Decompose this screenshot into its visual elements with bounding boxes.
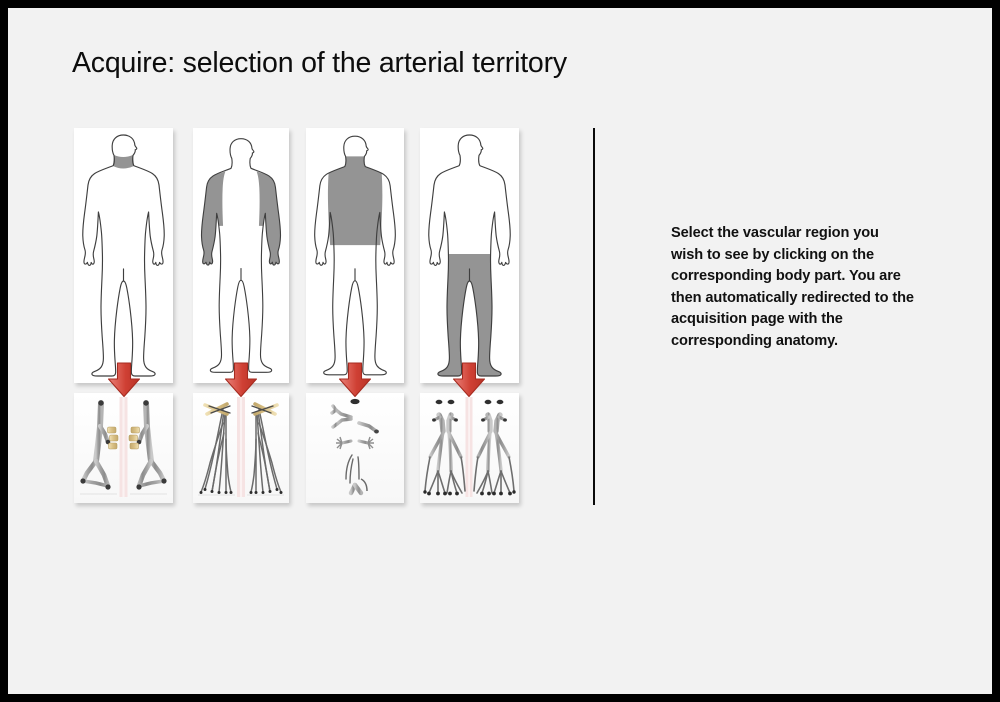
body-diagram-legs-highlighted[interactable] — [420, 128, 519, 383]
page-title: Acquire: selection of the arterial terri… — [72, 46, 892, 80]
body-diagram-torso-highlighted[interactable] — [306, 128, 404, 383]
body-diagram-arms-highlighted[interactable] — [193, 128, 289, 383]
carotid-angiography-thumbnail[interactable] — [74, 393, 173, 503]
lower-limb-angiography-thumbnail[interactable] — [420, 393, 519, 503]
body-silhouette-arms — [193, 128, 289, 383]
vertical-divider — [593, 128, 595, 505]
body-diagram-neck-highlighted[interactable] — [74, 128, 173, 383]
upper-limb-angiography-thumbnail[interactable] — [193, 393, 289, 503]
slide-root: Acquire: selection of the arterial terri… — [0, 0, 1000, 702]
body-silhouette-legs — [420, 128, 519, 383]
carotid-vessel-image — [74, 393, 173, 503]
upper-limb-vessel-image — [193, 393, 289, 503]
slide-canvas: Acquire: selection of the arterial terri… — [8, 8, 992, 694]
body-silhouette-neck — [74, 128, 173, 383]
abdominal-aorta-vessel-image — [306, 393, 404, 503]
lower-limb-vessel-image — [420, 393, 519, 503]
instruction-text: Select the vascular region you wish to s… — [671, 223, 914, 353]
abdominal-aorta-angiography-thumbnail[interactable] — [306, 393, 404, 503]
body-silhouette-torso — [306, 128, 404, 383]
